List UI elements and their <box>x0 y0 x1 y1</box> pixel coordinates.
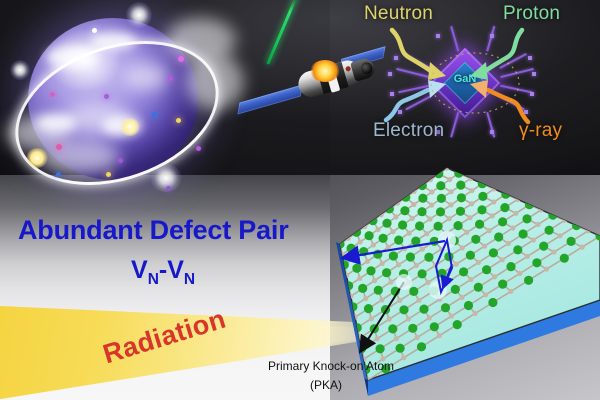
circuit-pad <box>532 72 536 76</box>
circuit-trace <box>500 68 533 78</box>
particle-spark <box>152 112 158 118</box>
label-gamma-ray: γ-ray <box>519 120 562 142</box>
particle-spark <box>168 76 173 81</box>
circuit-pad <box>398 110 402 114</box>
star-glow <box>126 2 152 28</box>
illustration-canvas: GaN Neutron Proton Electron γ-ray Radiat… <box>0 0 600 400</box>
label-electron: Electron <box>373 120 444 142</box>
star-glow <box>10 60 30 80</box>
defect-headline: Abundant Defect Pair <box>18 215 289 246</box>
particle-spark <box>178 56 184 62</box>
circuit-pad <box>388 72 392 76</box>
particle-spark <box>56 144 62 150</box>
particle-spark <box>196 146 201 151</box>
circuit-trace <box>500 85 532 93</box>
particle-spark <box>56 172 61 177</box>
star-glow <box>120 118 140 136</box>
particle-spark <box>118 158 123 163</box>
star-glow <box>26 148 48 168</box>
label-neutron: Neutron <box>364 3 433 25</box>
pka-label-line1: Primary Knock-on Atom <box>268 359 394 373</box>
gan-chip-group: GaN <box>420 50 530 116</box>
circuit-pad <box>524 110 528 114</box>
circuit-pad <box>394 56 398 60</box>
particle-spark <box>104 94 109 99</box>
particle-spark <box>166 186 171 191</box>
circuit-pad <box>530 92 534 96</box>
circuit-pad <box>436 34 440 38</box>
circuit-trace <box>499 96 524 110</box>
circuit-pad <box>390 92 394 96</box>
defect-formula: VN-VN <box>131 256 195 289</box>
particle-spark <box>176 118 181 123</box>
pka-label-line2: (PKA) <box>310 378 342 392</box>
gan-chip-label: GaN <box>438 73 492 85</box>
particle-spark <box>106 172 111 177</box>
circuit-trace <box>499 53 526 68</box>
particle-spark <box>92 28 97 33</box>
circuit-pad <box>490 130 494 134</box>
particle-spark <box>50 92 55 97</box>
impact-flash <box>310 60 340 82</box>
label-proton: Proton <box>503 3 560 25</box>
circuit-pad <box>528 56 532 60</box>
circuit-pad <box>490 34 494 38</box>
